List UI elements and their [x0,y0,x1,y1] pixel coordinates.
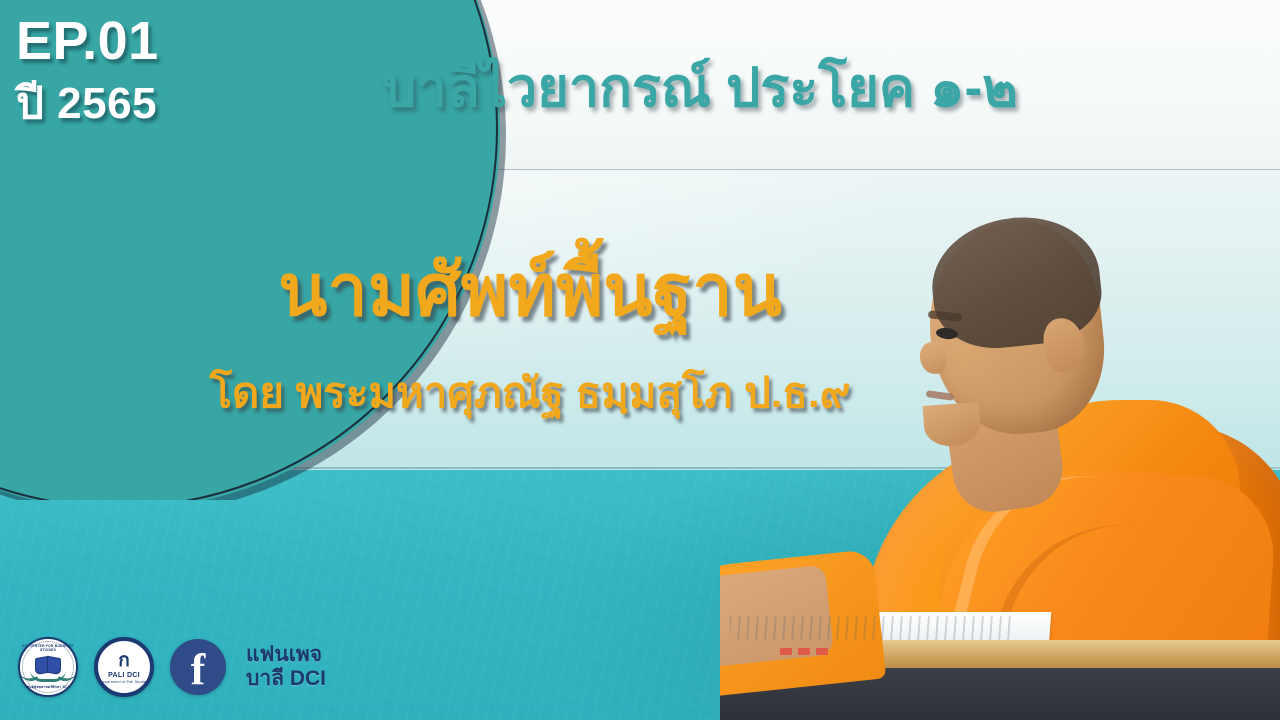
lesson-presenter: โดย พระมหาศุภณัฐ ธมฺมสุโภ ป.ธ.๙ [0,360,1060,426]
episode-number: EP.01 [16,14,159,68]
paper-text-lines [720,616,1011,640]
dci-center-seal-logo: DCI CENTER FOR BUDDHIST STUDIES ศูนย์พุท… [18,637,78,697]
video-title-slide: EP.01 ปี 2565 บาลีไวยากรณ์ ประโยค ๑-๒ นา… [0,0,1280,720]
episode-badge: EP.01 ปี 2565 [16,14,159,126]
pali-dci-department: Department of Pali Studies [100,680,148,684]
seal-top-text: DCI CENTER FOR BUDDHIST STUDIES [20,644,76,652]
footer-branding: DCI CENTER FOR BUDDHIST STUDIES ศูนย์พุท… [18,632,326,702]
facebook-f-glyph: f [191,648,206,692]
fanpage-label-group: แฟนเพจ บาลี DCI [246,643,326,690]
lotus-icon [30,670,66,682]
pali-dci-logo: ก PALI DCI Department of Pali Studies [94,637,154,697]
facebook-icon[interactable]: f [170,639,226,695]
course-title: บาลีไวยากรณ์ ประโยค ๑-๒ [0,44,1280,130]
episode-year: ปี 2565 [16,82,159,126]
fanpage-name: บาลี DCI [246,667,326,691]
lesson-title: นามศัพท์พื้นฐาน [0,232,1060,347]
fanpage-label: แฟนเพจ [246,643,326,667]
pali-glyph-icon: ก [118,651,130,670]
pali-dci-name: PALI DCI [108,672,140,679]
paper-red-marks [780,648,832,655]
seal-bottom-text: ศูนย์พุทธศาสตร์ศึกษา DCI [20,685,76,690]
